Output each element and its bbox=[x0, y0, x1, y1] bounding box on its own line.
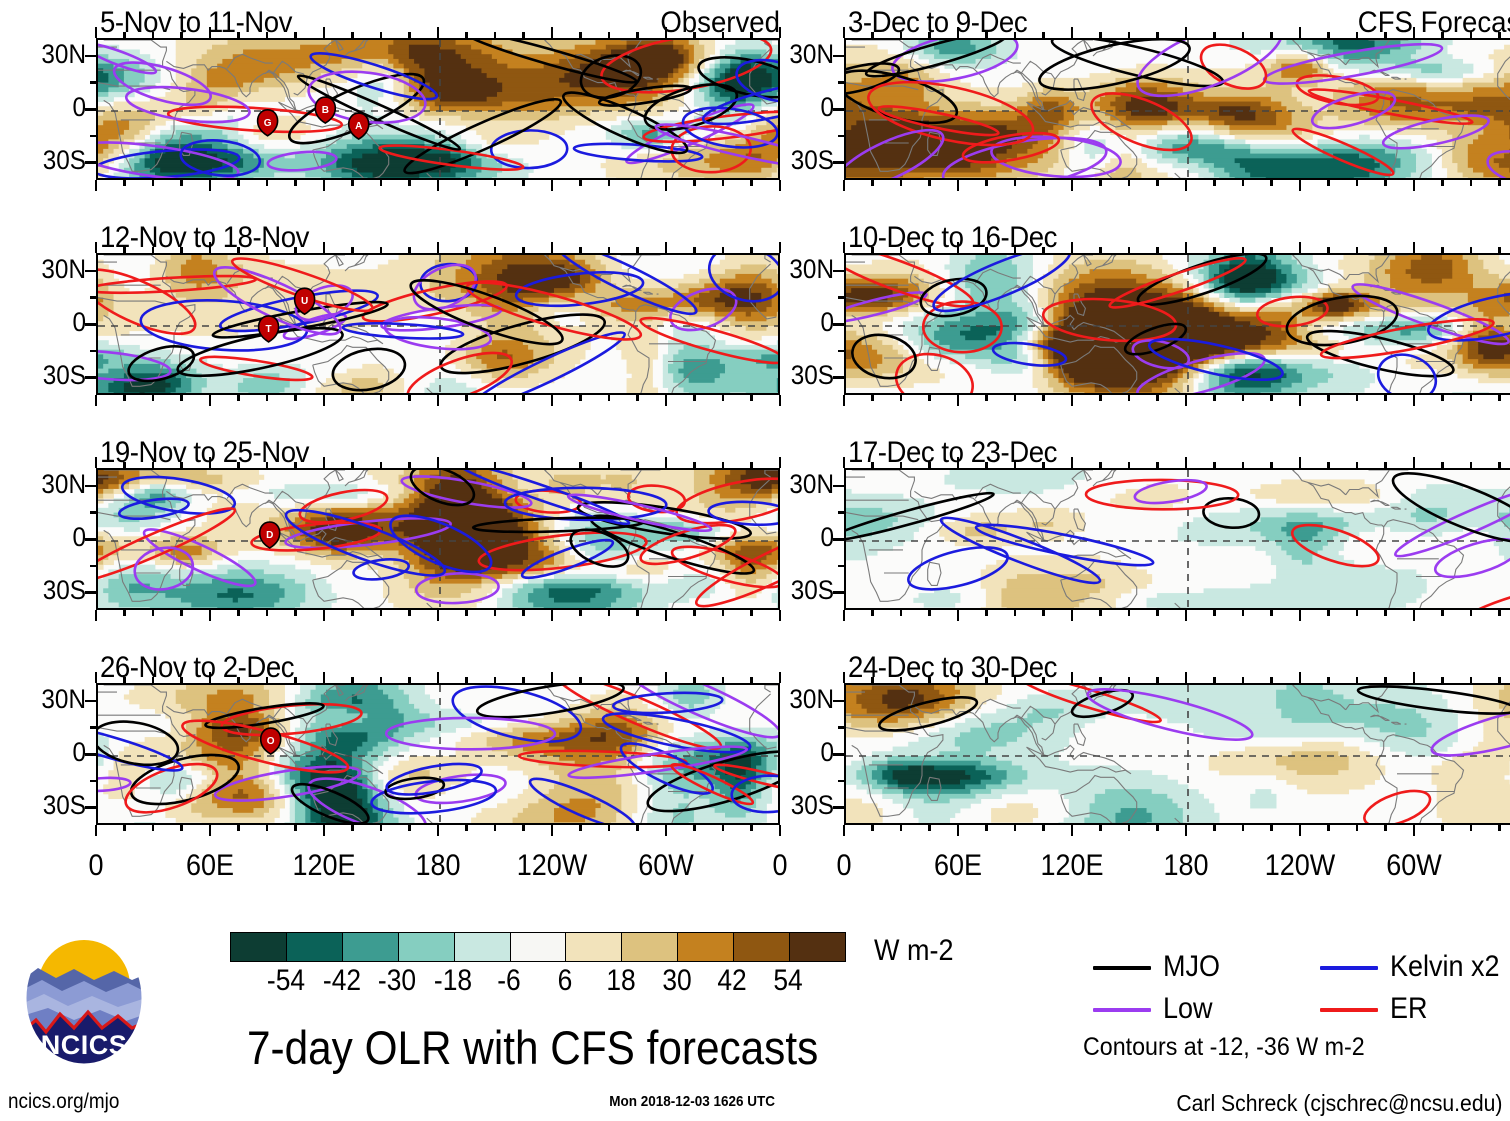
x-tick bbox=[95, 395, 98, 406]
x-tick bbox=[465, 610, 468, 616]
x-tick-top bbox=[1327, 462, 1330, 468]
x-tick bbox=[579, 180, 582, 186]
x-tick bbox=[351, 180, 354, 186]
x-tick bbox=[1498, 610, 1501, 616]
y-tick bbox=[833, 485, 845, 488]
x-tick bbox=[1498, 825, 1501, 831]
x-tick-top bbox=[323, 672, 326, 683]
x-tick-top bbox=[928, 32, 931, 38]
y-tick bbox=[85, 376, 97, 379]
map-panel[interactable]: GBA bbox=[96, 38, 780, 180]
y-tick bbox=[85, 538, 97, 541]
x-tick-top bbox=[1185, 242, 1188, 253]
x-tick-top bbox=[1042, 32, 1045, 38]
x-tick-top bbox=[985, 247, 988, 253]
x-tick-top bbox=[750, 32, 753, 38]
x-tick-top bbox=[779, 27, 782, 38]
x-tick bbox=[1156, 395, 1159, 401]
x-tick-top bbox=[1185, 27, 1188, 38]
contour-note: Contours at -12, -36 W m-2 bbox=[1083, 1033, 1365, 1062]
x-tick-top bbox=[294, 677, 297, 683]
x-tick bbox=[1014, 825, 1017, 831]
x-tick bbox=[750, 395, 753, 401]
x-tick-top bbox=[380, 677, 383, 683]
x-tick-top bbox=[579, 247, 582, 253]
x-tick bbox=[1128, 825, 1131, 831]
x-tick-top bbox=[1327, 247, 1330, 253]
x-tick bbox=[1356, 825, 1359, 831]
x-tick bbox=[209, 180, 212, 191]
x-tick bbox=[237, 395, 240, 401]
y-axis-label: 0 bbox=[9, 307, 86, 338]
x-tick-top bbox=[1128, 247, 1131, 253]
svg-text:U: U bbox=[301, 296, 308, 307]
x-tick bbox=[1071, 825, 1074, 836]
x-tick-top bbox=[665, 672, 668, 683]
x-tick bbox=[237, 180, 240, 186]
legend-swatch-low bbox=[1093, 1008, 1151, 1012]
x-tick bbox=[1384, 180, 1387, 186]
x-tick bbox=[95, 825, 98, 836]
y-tick bbox=[85, 161, 97, 164]
x-tick-top bbox=[871, 32, 874, 38]
x-tick bbox=[1071, 610, 1074, 621]
x-tick bbox=[843, 395, 846, 406]
x-tick bbox=[1156, 825, 1159, 831]
svg-text:D: D bbox=[266, 530, 273, 541]
y-tick-minor bbox=[90, 350, 97, 353]
x-tick bbox=[123, 395, 126, 401]
x-tick-top bbox=[1470, 247, 1473, 253]
y-tick-minor bbox=[90, 296, 97, 299]
y-axis-label: 30N bbox=[9, 254, 86, 285]
x-tick bbox=[871, 180, 874, 186]
colorbar bbox=[230, 932, 846, 962]
x-tick bbox=[1470, 825, 1473, 831]
y-tick-minor bbox=[838, 296, 845, 299]
x-tick bbox=[900, 610, 903, 616]
x-tick-top bbox=[722, 462, 725, 468]
x-tick bbox=[1071, 180, 1074, 191]
x-tick bbox=[465, 395, 468, 401]
x-tick bbox=[437, 395, 440, 406]
x-tick bbox=[608, 610, 611, 616]
x-tick-top bbox=[928, 462, 931, 468]
x-tick bbox=[123, 825, 126, 831]
x-tick-top bbox=[1213, 247, 1216, 253]
map-panel[interactable] bbox=[844, 683, 1510, 825]
y-axis-label: 30S bbox=[757, 575, 834, 606]
x-tick-top bbox=[1014, 247, 1017, 253]
x-tick bbox=[928, 180, 931, 186]
x-tick bbox=[1327, 610, 1330, 616]
x-tick-top bbox=[750, 462, 753, 468]
x-tick-top bbox=[985, 32, 988, 38]
y-tick bbox=[833, 55, 845, 58]
x-tick-top bbox=[665, 27, 668, 38]
x-tick bbox=[1413, 610, 1416, 621]
x-tick-top bbox=[693, 247, 696, 253]
x-tick bbox=[985, 395, 988, 401]
x-tick bbox=[551, 180, 554, 191]
x-tick bbox=[408, 610, 411, 616]
x-axis-label: 60E bbox=[165, 849, 255, 883]
x-tick-top bbox=[1413, 672, 1416, 683]
x-tick-top bbox=[1213, 677, 1216, 683]
y-axis-label: 30S bbox=[757, 360, 834, 391]
x-axis-label: 60E bbox=[913, 849, 1003, 883]
y-tick-minor bbox=[90, 81, 97, 84]
map-panel[interactable] bbox=[844, 468, 1510, 610]
x-tick bbox=[1356, 610, 1359, 616]
map-panel[interactable]: O bbox=[96, 683, 780, 825]
x-tick bbox=[1099, 180, 1102, 186]
y-tick-minor bbox=[90, 565, 97, 568]
y-axis-label: 30N bbox=[757, 469, 834, 500]
x-tick bbox=[1384, 610, 1387, 616]
x-tick-top bbox=[437, 457, 440, 468]
x-tick bbox=[1014, 180, 1017, 186]
x-tick bbox=[665, 395, 668, 406]
x-tick-top bbox=[722, 32, 725, 38]
map-panel[interactable]: D bbox=[96, 468, 780, 610]
x-tick-top bbox=[1384, 677, 1387, 683]
x-tick-top bbox=[437, 27, 440, 38]
x-tick bbox=[1270, 610, 1273, 616]
x-tick-top bbox=[608, 247, 611, 253]
x-tick-top bbox=[237, 677, 240, 683]
x-tick bbox=[323, 610, 326, 621]
x-tick-top bbox=[693, 462, 696, 468]
x-tick-top bbox=[551, 672, 554, 683]
x-tick bbox=[522, 825, 525, 831]
y-axis-label: 0 bbox=[757, 307, 834, 338]
x-tick bbox=[1299, 180, 1302, 191]
x-tick bbox=[1042, 395, 1045, 401]
x-tick bbox=[1384, 395, 1387, 401]
x-tick bbox=[1128, 180, 1131, 186]
x-tick bbox=[1156, 610, 1159, 616]
colorbar-swatch bbox=[566, 933, 622, 961]
x-tick bbox=[323, 395, 326, 406]
x-tick-top bbox=[1470, 462, 1473, 468]
x-tick bbox=[494, 180, 497, 186]
x-tick-top bbox=[1299, 457, 1302, 468]
column-header-forecast: CFS Forecast bbox=[899, 6, 1510, 40]
x-tick bbox=[351, 395, 354, 401]
x-tick-top bbox=[1356, 247, 1359, 253]
x-tick-top bbox=[237, 247, 240, 253]
x-tick-top bbox=[408, 32, 411, 38]
x-tick bbox=[266, 180, 269, 186]
x-tick bbox=[408, 395, 411, 401]
x-tick bbox=[1441, 395, 1444, 401]
colorbar-swatch bbox=[678, 933, 734, 961]
x-tick-top bbox=[551, 457, 554, 468]
x-tick-top bbox=[123, 677, 126, 683]
x-tick-top bbox=[693, 677, 696, 683]
x-tick bbox=[636, 825, 639, 831]
x-tick-top bbox=[494, 32, 497, 38]
x-tick-top bbox=[494, 677, 497, 683]
x-tick bbox=[1470, 395, 1473, 401]
y-axis-label: 30S bbox=[9, 145, 86, 176]
x-tick bbox=[180, 180, 183, 186]
x-tick-top bbox=[95, 27, 98, 38]
timestamp-label: Mon 2018-12-03 1626 UTC bbox=[609, 1093, 775, 1110]
colorbar-swatch bbox=[343, 933, 399, 961]
x-tick-top bbox=[209, 672, 212, 683]
y-tick bbox=[833, 161, 845, 164]
x-tick-top bbox=[1270, 32, 1273, 38]
colorbar-tick-label: 54 bbox=[753, 964, 823, 998]
x-tick-top bbox=[180, 247, 183, 253]
map-panel[interactable] bbox=[844, 253, 1510, 395]
x-tick bbox=[266, 825, 269, 831]
y-axis-label: 0 bbox=[757, 522, 834, 553]
x-axis-label: 0 bbox=[1483, 849, 1510, 883]
x-tick bbox=[665, 610, 668, 621]
y-tick-minor bbox=[838, 350, 845, 353]
x-tick bbox=[985, 825, 988, 831]
x-tick bbox=[351, 825, 354, 831]
x-tick bbox=[1242, 180, 1245, 186]
x-tick-top bbox=[1042, 677, 1045, 683]
x-tick bbox=[1498, 180, 1501, 186]
x-tick-top bbox=[1128, 677, 1131, 683]
y-tick bbox=[833, 376, 845, 379]
x-tick-top bbox=[985, 462, 988, 468]
x-tick bbox=[1384, 825, 1387, 831]
x-tick-top bbox=[1014, 32, 1017, 38]
x-tick-top bbox=[522, 462, 525, 468]
x-tick bbox=[437, 180, 440, 191]
x-tick bbox=[95, 180, 98, 191]
x-tick bbox=[266, 610, 269, 616]
x-tick-top bbox=[843, 457, 846, 468]
x-tick bbox=[722, 610, 725, 616]
y-tick bbox=[833, 700, 845, 703]
x-tick-top bbox=[1071, 672, 1074, 683]
y-tick bbox=[833, 591, 845, 594]
x-tick bbox=[1413, 180, 1416, 191]
x-tick-top bbox=[1128, 32, 1131, 38]
x-tick-top bbox=[957, 457, 960, 468]
x-tick bbox=[465, 825, 468, 831]
x-tick bbox=[665, 825, 668, 836]
x-tick-top bbox=[551, 242, 554, 253]
x-tick bbox=[123, 610, 126, 616]
panel-title: 12-Nov to 18-Nov bbox=[100, 221, 309, 255]
x-tick bbox=[1128, 395, 1131, 401]
y-axis-label: 30N bbox=[757, 39, 834, 70]
legend-label: Kelvin x2 bbox=[1390, 950, 1500, 984]
x-tick-top bbox=[1356, 32, 1359, 38]
y-axis-label: 30S bbox=[9, 575, 86, 606]
x-tick-top bbox=[608, 462, 611, 468]
x-tick-top bbox=[209, 242, 212, 253]
x-tick-top bbox=[1042, 247, 1045, 253]
x-tick-top bbox=[779, 242, 782, 253]
x-tick-top bbox=[1099, 32, 1102, 38]
map-panel[interactable]: TU bbox=[96, 253, 780, 395]
x-tick bbox=[843, 825, 846, 836]
colorbar-swatch bbox=[511, 933, 567, 961]
y-tick-minor bbox=[90, 135, 97, 138]
x-tick-top bbox=[266, 247, 269, 253]
x-tick bbox=[1356, 180, 1359, 186]
y-axis-label: 30N bbox=[757, 254, 834, 285]
x-tick bbox=[1470, 180, 1473, 186]
x-tick-top bbox=[152, 247, 155, 253]
x-tick-top bbox=[579, 462, 582, 468]
x-tick bbox=[522, 180, 525, 186]
x-tick bbox=[1185, 610, 1188, 621]
x-tick bbox=[1498, 395, 1501, 401]
x-tick bbox=[294, 180, 297, 186]
x-tick-top bbox=[843, 242, 846, 253]
x-tick-top bbox=[1128, 462, 1131, 468]
x-tick bbox=[579, 610, 582, 616]
x-tick-top bbox=[152, 462, 155, 468]
x-tick-top bbox=[1156, 247, 1159, 253]
x-tick bbox=[1071, 395, 1074, 406]
x-tick bbox=[152, 180, 155, 186]
x-tick bbox=[957, 180, 960, 191]
x-tick-top bbox=[1270, 677, 1273, 683]
x-tick bbox=[1014, 395, 1017, 401]
x-tick-top bbox=[266, 677, 269, 683]
x-tick-top bbox=[294, 247, 297, 253]
x-tick-top bbox=[900, 247, 903, 253]
y-axis-label: 30S bbox=[757, 145, 834, 176]
x-tick-top bbox=[1413, 457, 1416, 468]
y-tick bbox=[85, 485, 97, 488]
x-tick bbox=[1128, 610, 1131, 616]
x-tick bbox=[928, 825, 931, 831]
x-tick-top bbox=[1156, 32, 1159, 38]
x-tick-top bbox=[1384, 462, 1387, 468]
x-tick-top bbox=[1099, 247, 1102, 253]
x-tick-top bbox=[779, 672, 782, 683]
x-tick bbox=[1042, 180, 1045, 186]
svg-text:T: T bbox=[266, 324, 272, 335]
x-tick-top bbox=[900, 32, 903, 38]
x-tick-top bbox=[636, 462, 639, 468]
x-tick bbox=[957, 610, 960, 621]
x-tick-top bbox=[408, 247, 411, 253]
x-tick-top bbox=[494, 247, 497, 253]
x-tick-top bbox=[985, 677, 988, 683]
x-tick-top bbox=[900, 462, 903, 468]
x-tick bbox=[779, 825, 782, 836]
x-tick-top bbox=[1270, 462, 1273, 468]
x-tick bbox=[750, 825, 753, 831]
x-tick bbox=[437, 610, 440, 621]
x-tick-top bbox=[1498, 247, 1501, 253]
x-tick-top bbox=[351, 677, 354, 683]
x-tick-top bbox=[294, 462, 297, 468]
colorbar-unit-label: W m-2 bbox=[874, 934, 953, 968]
y-axis-label: 30S bbox=[757, 790, 834, 821]
x-tick-top bbox=[237, 32, 240, 38]
x-tick bbox=[722, 825, 725, 831]
x-tick bbox=[579, 825, 582, 831]
x-axis-label: 120E bbox=[1027, 849, 1117, 883]
x-tick bbox=[1441, 180, 1444, 186]
x-tick bbox=[1042, 610, 1045, 616]
x-axis-label: 60W bbox=[1369, 849, 1459, 883]
x-tick-top bbox=[294, 32, 297, 38]
y-axis-label: 30S bbox=[9, 790, 86, 821]
site-url-label: ncics.org/mjo bbox=[8, 1090, 119, 1114]
x-tick bbox=[1441, 825, 1444, 831]
x-tick bbox=[693, 610, 696, 616]
x-tick-top bbox=[123, 462, 126, 468]
x-tick-top bbox=[1156, 677, 1159, 683]
x-tick-top bbox=[237, 462, 240, 468]
x-tick-top bbox=[408, 677, 411, 683]
svg-text:O: O bbox=[267, 736, 275, 747]
panel-title: 17-Dec to 23-Dec bbox=[848, 436, 1057, 470]
y-tick bbox=[833, 806, 845, 809]
x-tick-top bbox=[957, 27, 960, 38]
x-tick-top bbox=[1185, 457, 1188, 468]
x-tick-top bbox=[871, 247, 874, 253]
colorbar-swatch bbox=[622, 933, 678, 961]
x-tick bbox=[522, 610, 525, 616]
x-tick-top bbox=[1099, 462, 1102, 468]
x-tick bbox=[750, 610, 753, 616]
x-axis-label: 180 bbox=[393, 849, 483, 883]
x-tick bbox=[180, 610, 183, 616]
x-tick bbox=[180, 825, 183, 831]
svg-text:G: G bbox=[264, 118, 272, 129]
y-axis-label: 30N bbox=[9, 684, 86, 715]
y-tick-minor bbox=[838, 511, 845, 514]
x-tick bbox=[1185, 395, 1188, 406]
y-tick-minor bbox=[838, 726, 845, 729]
legend-swatch-er bbox=[1320, 1008, 1378, 1012]
x-tick bbox=[152, 610, 155, 616]
x-tick-top bbox=[636, 32, 639, 38]
x-tick-top bbox=[928, 247, 931, 253]
x-tick-top bbox=[1441, 32, 1444, 38]
x-tick bbox=[1413, 825, 1416, 836]
x-tick-top bbox=[1242, 32, 1245, 38]
x-tick bbox=[95, 610, 98, 621]
x-tick bbox=[1213, 180, 1216, 186]
x-axis-label: 180 bbox=[1141, 849, 1231, 883]
x-tick bbox=[750, 180, 753, 186]
x-tick bbox=[1299, 610, 1302, 621]
x-tick bbox=[843, 180, 846, 191]
map-panel[interactable] bbox=[844, 38, 1510, 180]
x-tick bbox=[209, 610, 212, 621]
x-tick-top bbox=[608, 32, 611, 38]
author-credit: Carl Schreck (cjschrec@ncsu.edu) bbox=[1176, 1090, 1502, 1117]
x-axis-label: 60W bbox=[621, 849, 711, 883]
x-tick-top bbox=[722, 677, 725, 683]
x-tick bbox=[1299, 825, 1302, 836]
y-tick bbox=[85, 806, 97, 809]
x-tick-top bbox=[636, 247, 639, 253]
x-tick bbox=[1327, 825, 1330, 831]
y-tick-minor bbox=[838, 81, 845, 84]
x-tick bbox=[209, 825, 212, 836]
x-tick-top bbox=[323, 242, 326, 253]
x-tick-top bbox=[1299, 242, 1302, 253]
